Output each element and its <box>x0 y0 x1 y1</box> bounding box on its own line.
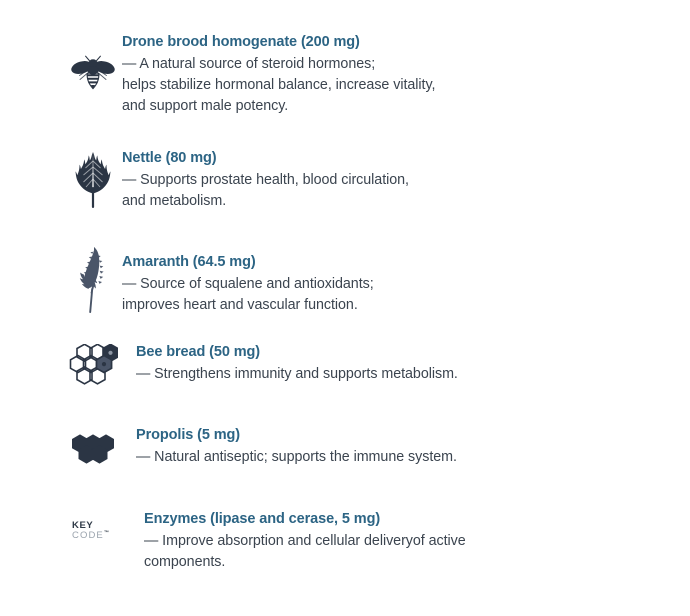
ingredient-desc-line: improves heart and vascular function. <box>122 295 664 316</box>
bee-icon-cell <box>64 32 122 94</box>
ingredient-text-drone-brood: Drone brood homogenate (200 mg) — A natu… <box>122 32 664 117</box>
ingredient-text-enzymes: Enzymes (lipase and cerase, 5 mg) — Impr… <box>130 509 664 573</box>
ingredient-desc-line: and support male potency. <box>122 96 664 117</box>
honeycomb-icon <box>68 344 118 389</box>
ingredient-text-nettle: Nettle (80 mg) — Supports prostate healt… <box>122 148 664 212</box>
ingredient-text-bee-bread: Bee bread (50 mg) — Strengthens immunity… <box>122 342 664 385</box>
ingredient-desc-line: — Strengthens immunity and supports meta… <box>136 364 664 385</box>
honeycomb-icon-cell <box>64 342 122 389</box>
ingredient-item-bee-bread: Bee bread (50 mg) — Strengthens immunity… <box>64 342 664 389</box>
ingredient-item-nettle: Nettle (80 mg) — Supports prostate healt… <box>64 148 664 212</box>
nettle-leaf-icon <box>73 151 113 209</box>
propolis-icon <box>68 429 118 469</box>
ingredient-item-amaranth: Amaranth (64.5 mg) — Source of squalene … <box>64 245 664 316</box>
ingredient-desc-line: — Improve absorption and cellular delive… <box>144 531 664 552</box>
ingredient-title: Enzymes (lipase and cerase, 5 mg) <box>144 509 664 530</box>
ingredient-title: Propolis (5 mg) <box>136 425 664 446</box>
ingredient-desc-line: — Supports prostate health, blood circul… <box>122 170 664 191</box>
ingredient-text-amaranth: Amaranth (64.5 mg) — Source of squalene … <box>122 245 664 316</box>
amaranth-plume-icon-cell <box>64 245 122 315</box>
propolis-icon-cell <box>64 425 122 469</box>
keycode-logo-line2: CODE™ <box>72 531 109 541</box>
keycode-logo-trademark-mark: ™ <box>104 530 109 536</box>
keycode-logo-icon-cell: KEY CODE™ <box>64 509 130 540</box>
keycode-logo-code-text: CODE <box>72 530 104 541</box>
ingredient-desc-line: — A natural source of steroid hormones; <box>122 54 664 75</box>
ingredient-desc-line: helps stabilize hormonal balance, increa… <box>122 75 664 96</box>
amaranth-plume-icon <box>73 245 113 315</box>
ingredient-title: Bee bread (50 mg) <box>136 342 664 363</box>
nettle-leaf-icon-cell <box>64 148 122 209</box>
ingredient-desc-line: — Natural antiseptic; supports the immun… <box>136 447 664 468</box>
ingredient-title: Drone brood homogenate (200 mg) <box>122 32 664 53</box>
ingredient-item-drone-brood: Drone brood homogenate (200 mg) — A natu… <box>64 32 664 117</box>
bee-icon <box>70 54 116 94</box>
ingredient-text-propolis: Propolis (5 mg) — Natural antiseptic; su… <box>122 425 664 468</box>
ingredient-desc-line: and metabolism. <box>122 191 664 212</box>
ingredient-list: Drone brood homogenate (200 mg) — A natu… <box>0 0 690 616</box>
ingredient-item-enzymes: KEY CODE™ Enzymes (lipase and cerase, 5 … <box>64 509 664 573</box>
ingredient-item-propolis: Propolis (5 mg) — Natural antiseptic; su… <box>64 425 664 469</box>
ingredient-desc-line: — Source of squalene and antioxidants; <box>122 274 664 295</box>
ingredient-title: Amaranth (64.5 mg) <box>122 252 664 273</box>
ingredient-desc-line: components. <box>144 552 664 573</box>
ingredient-title: Nettle (80 mg) <box>122 148 664 169</box>
keycode-logo-icon: KEY CODE™ <box>72 521 109 540</box>
